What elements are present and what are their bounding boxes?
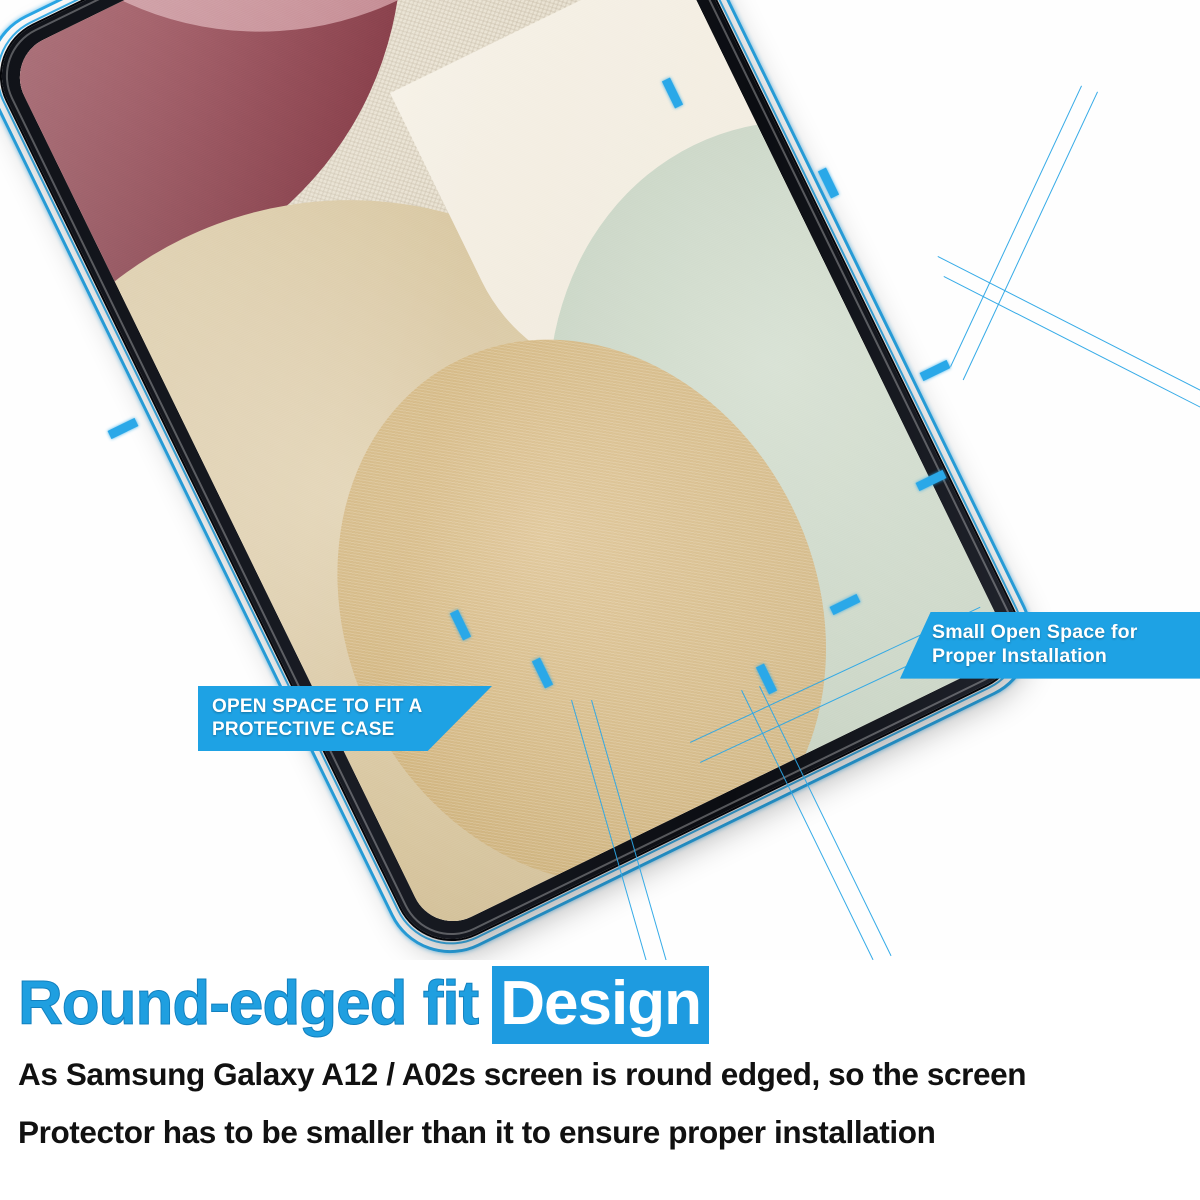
phone-body	[0, 0, 1037, 958]
callout-left-line1: OPEN SPACE TO FIT A	[212, 695, 480, 718]
product-marketing-image: OPEN SPACE TO FIT A PROTECTIVE CASE Smal…	[0, 0, 1200, 1200]
callout-right-line2: Proper Installation	[932, 645, 1194, 669]
marketing-text-block: Round-edged fitDesign As Samsung Galaxy …	[0, 960, 1200, 1200]
callout-left-line2: PROTECTIVE CASE	[212, 718, 480, 741]
guide-line-tr-c	[938, 256, 1200, 407]
headline-highlight: Design	[492, 966, 709, 1044]
phone-device	[0, 0, 1037, 958]
phone-screen	[6, 0, 1014, 935]
headline-main: Round-edged fit	[18, 968, 492, 1039]
tick-mark-right-1	[920, 360, 951, 381]
headline: Round-edged fitDesign	[18, 966, 709, 1044]
tick-mark-left-1	[108, 418, 139, 439]
wallpaper	[6, 0, 1014, 935]
guide-line-tr-a	[950, 86, 1082, 367]
guide-line-tr-b	[963, 92, 1098, 381]
wallpaper-sheen	[6, 0, 1014, 935]
callout-small-open-space: Small Open Space for Proper Installation	[900, 612, 1200, 679]
callout-right-line1: Small Open Space for	[932, 621, 1194, 645]
body-text-line-1: As Samsung Galaxy A12 / A02s screen is r…	[18, 1056, 1026, 1093]
body-text-line-2: Protector has to be smaller than it to e…	[18, 1114, 935, 1151]
